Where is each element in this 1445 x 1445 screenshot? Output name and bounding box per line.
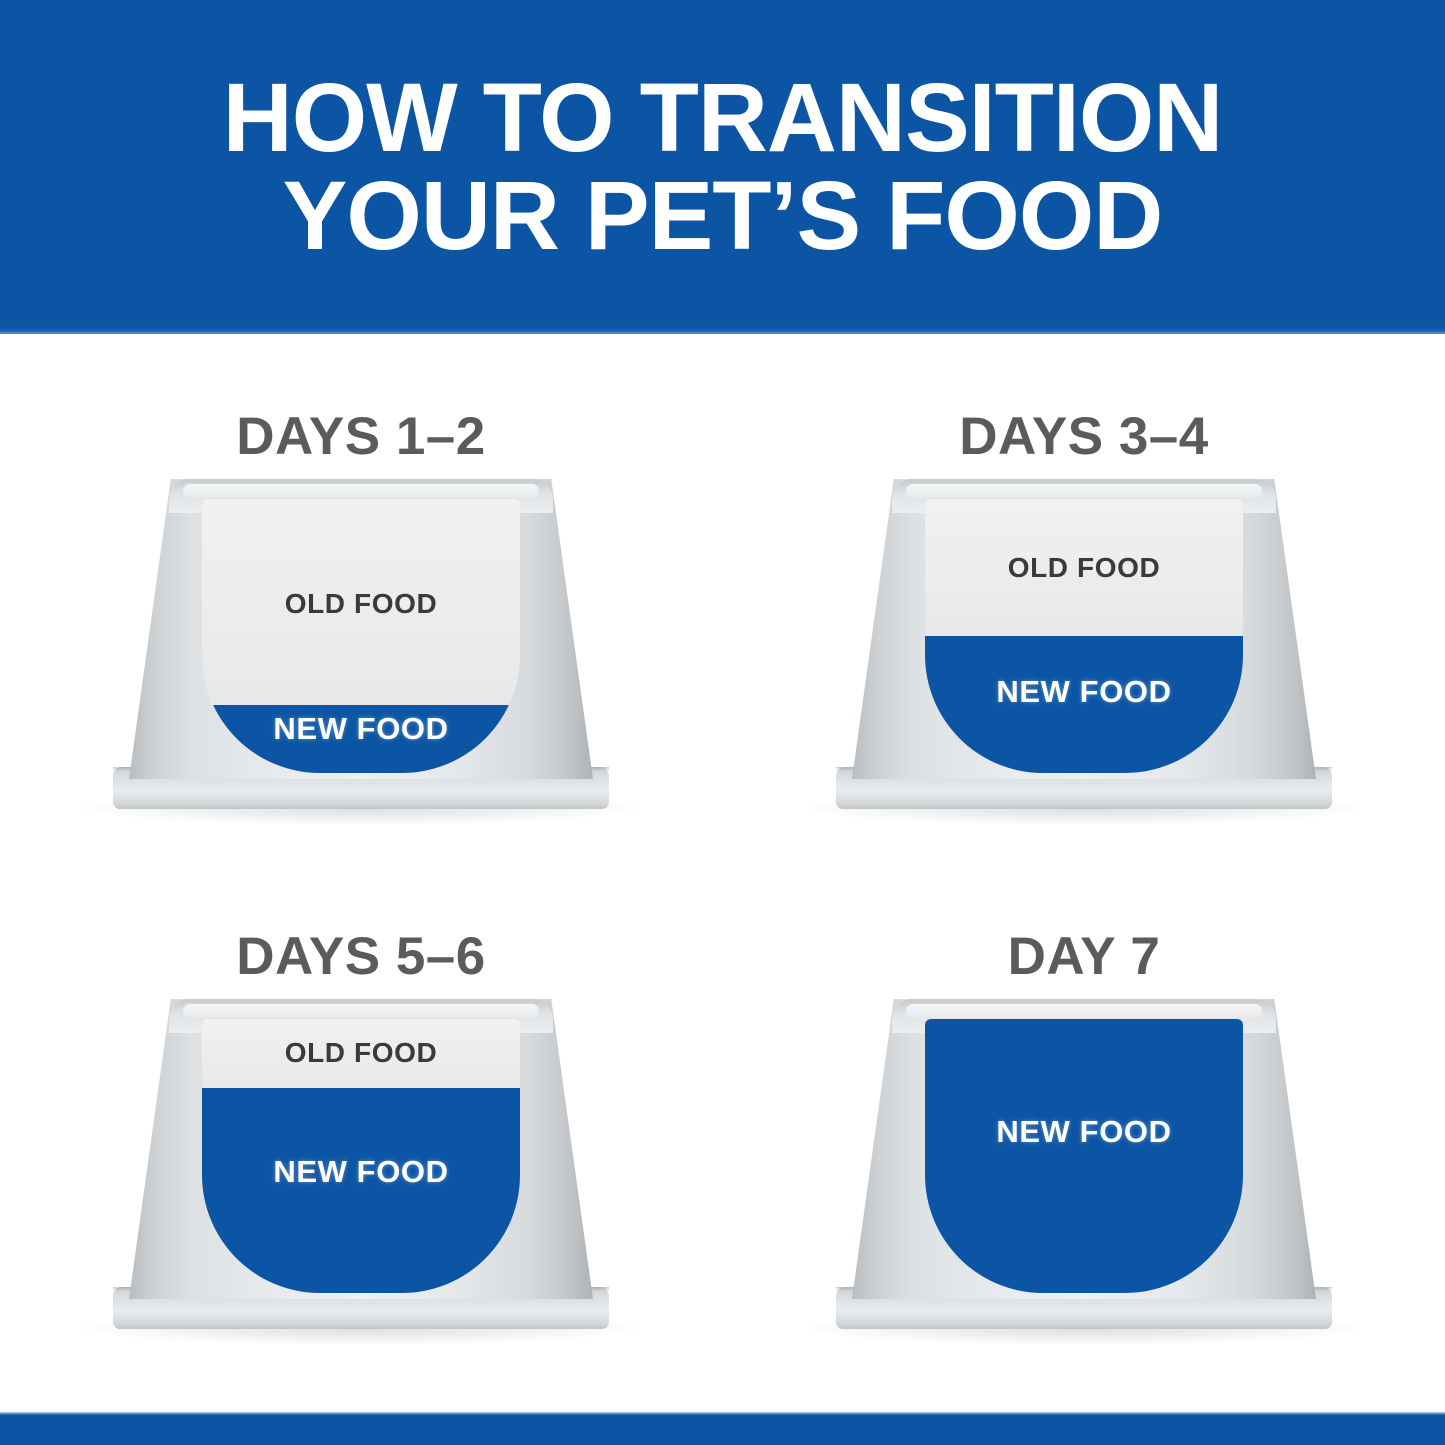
footer-topline bbox=[0, 1412, 1445, 1415]
page-title-line-1: HOW TO TRANSITION bbox=[223, 71, 1223, 165]
food-well-4: OLD FOOD NEW FOOD bbox=[925, 1019, 1243, 1293]
day-label-1: DAYS 1–2 bbox=[0, 406, 722, 467]
food-well-3: OLD FOOD NEW FOOD bbox=[202, 1019, 520, 1293]
day-label-3: DAYS 5–6 bbox=[0, 926, 722, 987]
transition-step-4: DAY 7 OLD FOOD NEW FOOD bbox=[723, 894, 1445, 1434]
new-food-label-4: NEW FOOD bbox=[925, 1114, 1243, 1150]
bowl-rim-highlight bbox=[906, 484, 1262, 498]
day-label-2: DAYS 3–4 bbox=[723, 406, 1445, 467]
header-underline bbox=[0, 326, 1445, 334]
transition-steps-grid: DAYS 1–2 OLD FOOD NEW FOOD DAYS 3–4 bbox=[0, 334, 1445, 1415]
new-food-label-3: NEW FOOD bbox=[202, 1154, 520, 1190]
page-title-line-2: YOUR PET’S FOOD bbox=[283, 169, 1163, 263]
food-well-1: OLD FOOD NEW FOOD bbox=[202, 499, 520, 773]
new-food-label-2: NEW FOOD bbox=[925, 674, 1243, 710]
old-food-label-3: OLD FOOD bbox=[202, 1037, 520, 1069]
new-food-fill-3: NEW FOOD bbox=[202, 1088, 520, 1294]
bowl-rim-highlight bbox=[183, 1004, 539, 1018]
old-food-fill-1: OLD FOOD bbox=[202, 499, 520, 705]
food-bowl-3: OLD FOOD NEW FOOD bbox=[129, 999, 593, 1329]
old-food-label-2: OLD FOOD bbox=[925, 552, 1243, 584]
old-food-fill-2: OLD FOOD bbox=[925, 499, 1243, 636]
new-food-fill-1: NEW FOOD bbox=[202, 705, 520, 774]
food-well-2: OLD FOOD NEW FOOD bbox=[925, 499, 1243, 773]
old-food-fill-3: OLD FOOD bbox=[202, 1019, 520, 1088]
new-food-fill-2: NEW FOOD bbox=[925, 636, 1243, 773]
new-food-label-1: NEW FOOD bbox=[202, 711, 520, 747]
new-food-fill-4: NEW FOOD bbox=[925, 1019, 1243, 1293]
day-label-4: DAY 7 bbox=[723, 926, 1445, 987]
transition-step-1: DAYS 1–2 OLD FOOD NEW FOOD bbox=[0, 374, 722, 914]
bowl-rim-highlight bbox=[183, 484, 539, 498]
old-food-label-1: OLD FOOD bbox=[202, 588, 520, 620]
bowl-rim-highlight bbox=[906, 1004, 1262, 1018]
food-bowl-2: OLD FOOD NEW FOOD bbox=[852, 479, 1316, 809]
transition-step-3: DAYS 5–6 OLD FOOD NEW FOOD bbox=[0, 894, 722, 1434]
footer-banner bbox=[0, 1415, 1445, 1445]
food-bowl-4: OLD FOOD NEW FOOD bbox=[852, 999, 1316, 1329]
transition-step-2: DAYS 3–4 OLD FOOD NEW FOOD bbox=[723, 374, 1445, 914]
header-banner: HOW TO TRANSITION YOUR PET’S FOOD bbox=[0, 0, 1445, 326]
food-bowl-1: OLD FOOD NEW FOOD bbox=[129, 479, 593, 809]
